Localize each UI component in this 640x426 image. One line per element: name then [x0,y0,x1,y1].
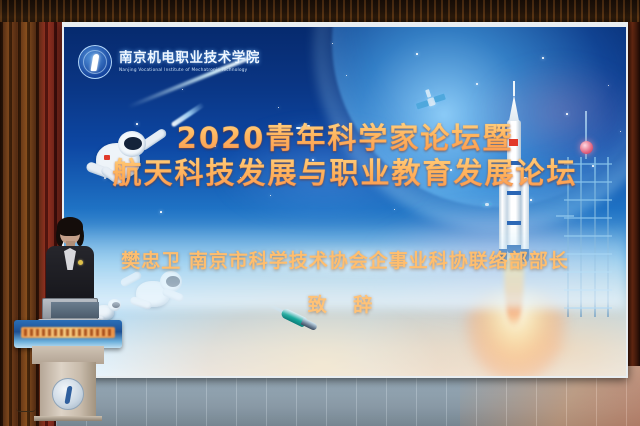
institution-seal-icon [78,45,112,79]
podium-front-banner [21,327,115,338]
projection-screen: 南京机电职业技术学院 Nanjing Vocational Institute … [64,27,626,376]
floor-cable [16,408,36,412]
satellite-distant [482,201,492,209]
lectern-top [14,320,122,348]
institution-emblem-icon [52,378,84,410]
speaker-credit-line: 樊忠卫 南京市科学技术协会企事业科协联络部部长 [64,249,626,273]
auditorium-scene: 南京机电职业技术学院 Nanjing Vocational Institute … [0,0,640,426]
institution-logo: 南京机电职业技术学院 Nanjing Vocational Institute … [78,45,260,79]
forum-title-line2: 航天科技发展与职业教育发展论坛 [64,155,626,191]
institution-name-cn: 南京机电职业技术学院 [119,52,260,66]
forum-title-block: 2020青年科学家论坛暨 航天科技发展与职业教育发展论坛 [64,121,626,191]
forum-title-line1: 2020青年科学家论坛暨 [64,121,626,155]
institution-logo-text: 南京机电职业技术学院 Nanjing Vocational Institute … [119,52,260,72]
institution-name-en: Nanjing Vocational Institute of Mechatro… [119,68,260,72]
action-line: 致 辞 [64,293,626,317]
speaker-badge [78,260,83,265]
laptop-screen [51,302,99,318]
lectern-base [34,416,102,421]
podium-area [14,220,122,420]
